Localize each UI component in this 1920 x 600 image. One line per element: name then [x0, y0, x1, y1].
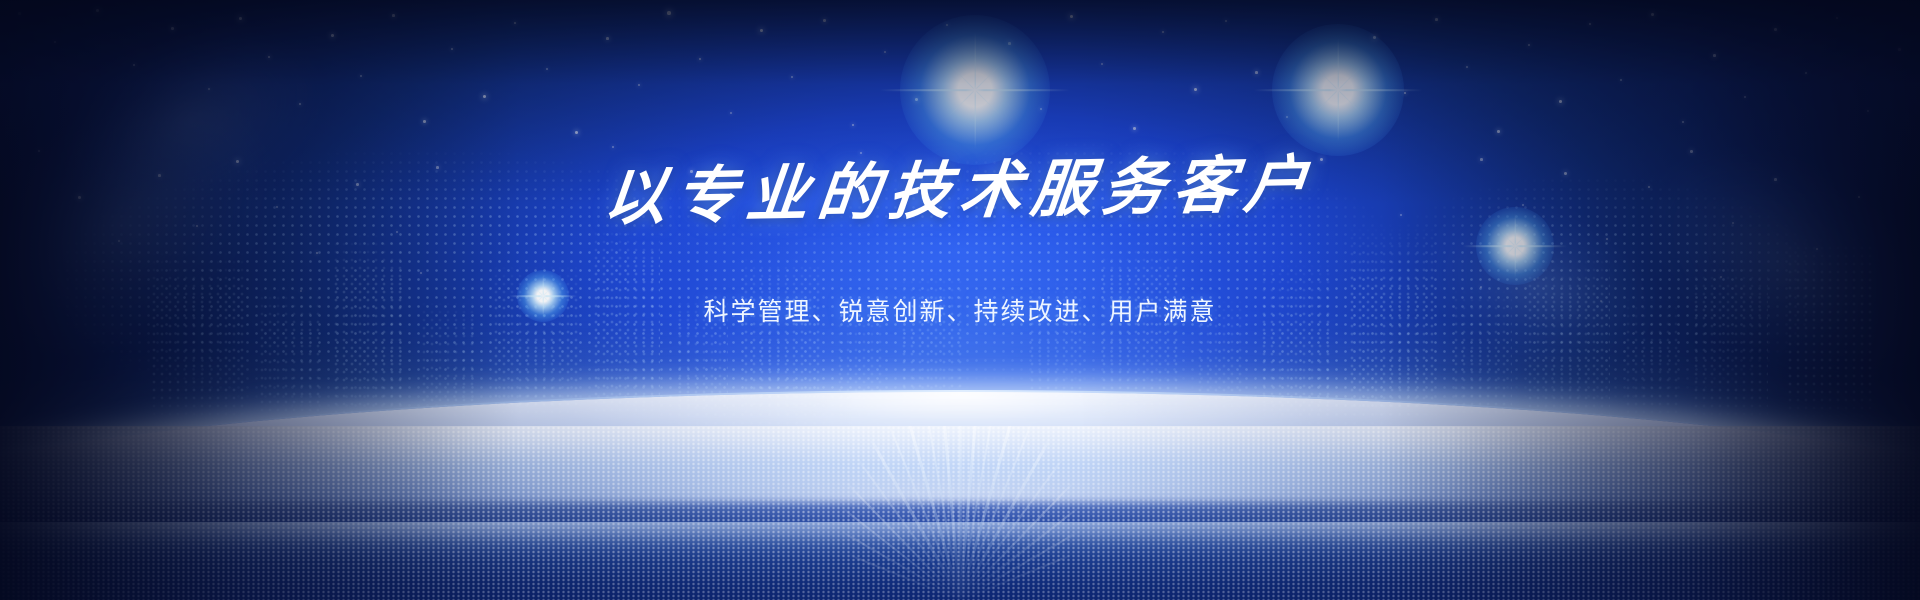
star-dot	[915, 98, 918, 101]
star-dot	[1194, 88, 1197, 91]
star-dot	[514, 22, 516, 24]
star-dot	[699, 58, 701, 60]
page-subtitle: 科学管理、锐意创新、持续改进、用户满意	[0, 300, 1920, 325]
headline-block: 以专业的技术服务客户	[0, 160, 1920, 222]
flare-ray	[974, 31, 975, 149]
star-dot	[1682, 121, 1684, 123]
star-dot	[1713, 54, 1716, 57]
star-dot	[1255, 71, 1258, 74]
star-dot	[360, 75, 362, 77]
star-dot	[392, 14, 395, 17]
star-dot	[852, 124, 854, 126]
star-dot	[1286, 116, 1288, 118]
flare-ray	[880, 89, 1070, 91]
star-dot	[1162, 31, 1164, 33]
star-dot	[575, 131, 578, 134]
star-dot	[546, 68, 548, 70]
star-dot	[1651, 13, 1654, 16]
star-dot	[1867, 110, 1869, 112]
star-dot	[18, 12, 21, 15]
star-dot	[171, 27, 174, 30]
star-dot	[1404, 92, 1406, 94]
star-dot	[1589, 23, 1591, 25]
star-dot	[1774, 28, 1777, 31]
star-dot	[1497, 130, 1500, 133]
star-dot	[1101, 63, 1103, 65]
flare-core	[1272, 24, 1404, 156]
star-dot	[638, 84, 640, 86]
flare-ray	[949, 64, 1001, 116]
star-dot	[1373, 36, 1376, 39]
star-dot	[946, 24, 948, 26]
star-dot	[208, 88, 210, 90]
star-dot	[133, 64, 135, 66]
star-dot	[606, 37, 609, 40]
star-dot	[1559, 100, 1562, 103]
city-edge-vignette	[0, 426, 1920, 600]
star-dot	[884, 51, 886, 53]
star-dot	[667, 11, 671, 15]
star-dot	[791, 76, 793, 78]
star-dot	[730, 112, 732, 114]
flare-ray	[1337, 38, 1338, 142]
star-dot	[760, 29, 763, 32]
four-point-star-flare-icon	[1272, 24, 1404, 156]
star-dot	[1225, 20, 1227, 22]
star-dot	[451, 48, 453, 50]
star-dot	[299, 103, 301, 105]
star-dot	[239, 17, 242, 20]
flare-ray	[1315, 67, 1361, 113]
star-dot	[268, 56, 270, 58]
flare-ray	[949, 64, 1001, 116]
star-dot	[1836, 17, 1838, 19]
star-dot	[54, 41, 56, 43]
star-dot	[1744, 96, 1746, 98]
flare-ray	[1254, 89, 1422, 91]
star-dot	[331, 34, 334, 37]
star-dot	[1133, 127, 1136, 130]
star-dot	[1805, 72, 1807, 74]
subtitle-block: 科学管理、锐意创新、持续改进、用户满意	[0, 300, 1920, 325]
radial-city-light-grid-icon	[0, 426, 1920, 600]
glowing-earth-horizon-icon	[0, 330, 1920, 600]
star-dot	[96, 9, 99, 12]
star-dot	[1008, 42, 1011, 45]
star-dot	[1898, 48, 1901, 51]
star-dot	[1528, 44, 1530, 46]
flare-ray	[1315, 67, 1361, 113]
star-dot	[823, 19, 826, 22]
star-dot	[1466, 66, 1468, 68]
star-dot	[1040, 108, 1042, 110]
star-dot	[1435, 18, 1438, 21]
star-dot	[1620, 79, 1622, 81]
star-dot	[423, 120, 426, 123]
hero-banner: 以专业的技术服务客户 科学管理、锐意创新、持续改进、用户满意	[0, 0, 1920, 600]
star-dot	[483, 95, 486, 98]
star-dot	[1070, 15, 1073, 18]
